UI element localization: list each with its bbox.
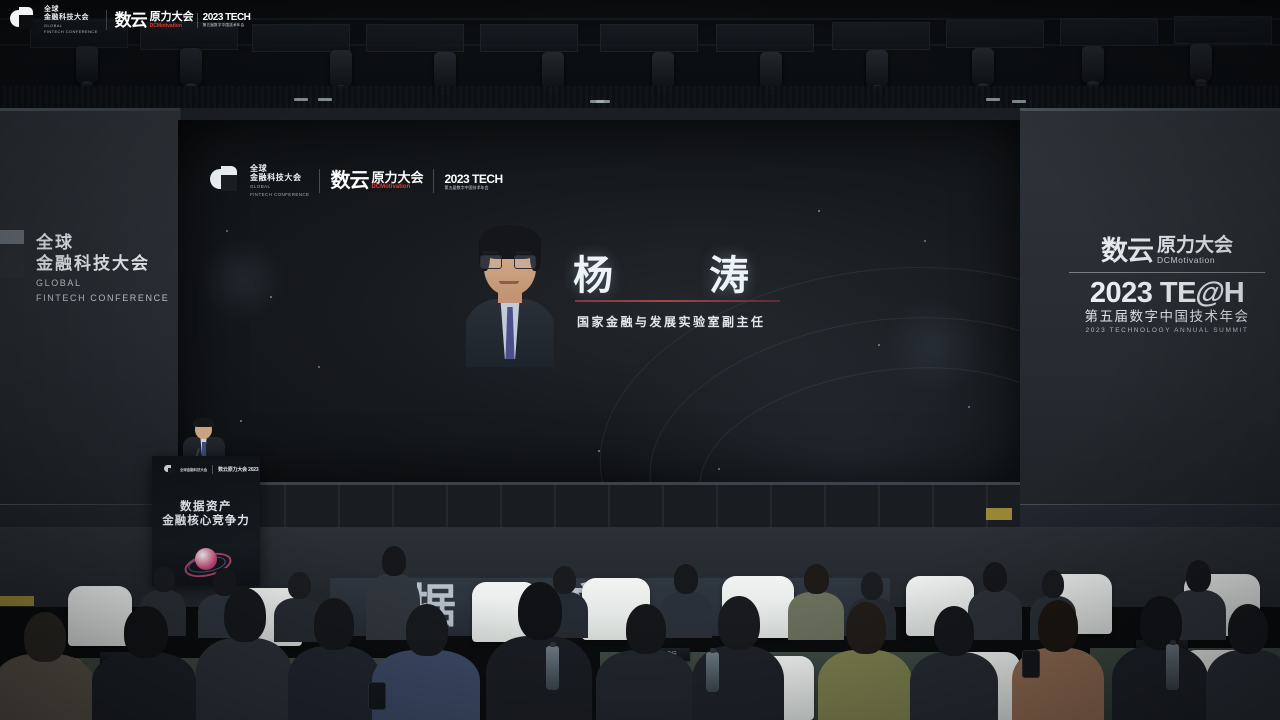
tech-at-glyph: @ xyxy=(1193,279,1227,308)
right-wall-tech-title: 2023 TE@H xyxy=(1062,279,1272,308)
audience-member xyxy=(818,600,912,720)
watermark-en-line2: FINTECH CONFERENCE xyxy=(44,29,98,34)
stage-light xyxy=(330,50,352,88)
podium-title-line2: 金融核心竞争力 xyxy=(152,512,260,528)
fintech-wall-logo-icon xyxy=(0,224,50,296)
screen-year-logo: 2023 TECH 第五届数字中国技术年会 xyxy=(444,173,502,190)
speaker-title: 国家金融与发展实验室副主任 xyxy=(577,313,766,330)
audience-member xyxy=(910,604,998,720)
audience-member xyxy=(196,586,292,720)
audience-member xyxy=(372,602,480,720)
speaker-name-underline xyxy=(575,300,780,302)
stage-light xyxy=(760,52,782,90)
watermark-en-line1: GLOBAL xyxy=(44,23,98,28)
right-wall-branding: 数云 原力大会 DCMotivation 2023 TE@H 第五届数字中国技术… xyxy=(1062,236,1272,334)
stage-light xyxy=(76,46,98,84)
dcm-title-en: DCMotivation xyxy=(150,23,194,29)
right-wall-divider xyxy=(1069,272,1265,273)
screen-dcm-title-en: DCMotivation xyxy=(371,184,423,191)
audience-member xyxy=(1206,602,1280,720)
audience-member xyxy=(596,602,694,720)
broadcast-watermark: 全球 金融科技大会 GLOBAL FINTECH CONFERENCE 数云 原… xyxy=(10,6,250,34)
screen-logo-en-line2: FINTECH CONFERENCE xyxy=(250,192,309,198)
tech-suffix: H xyxy=(1224,277,1244,309)
audience-member xyxy=(288,596,380,720)
water-bottle xyxy=(546,646,559,690)
podium-logo-dcm: 数云原力大会 2023 xyxy=(218,466,258,473)
screen-fintech-logo-icon xyxy=(210,166,240,196)
conference-hall-photo: 全球 金融科技大会 GLOBAL FINTECH CONFERENCE 数云 原… xyxy=(0,0,1280,720)
floor-marker-tape xyxy=(986,508,1012,520)
podium-logo-cn: 全球金融科技大会 xyxy=(180,468,207,472)
audience-member xyxy=(1112,594,1208,720)
audience-member xyxy=(486,580,592,720)
left-wall-en-line2: FINTECH CONFERENCE xyxy=(36,292,169,304)
screen-logo-divider xyxy=(319,169,320,193)
dcm-year-line2: 第五届数字中国技术年会 xyxy=(203,23,251,28)
podium-logo-row: 全球金融科技大会 数云原力大会 2023 xyxy=(164,464,258,475)
left-wall-en-line1: GLOBAL xyxy=(36,277,169,289)
screen-logo-en-line1: GLOBAL xyxy=(250,184,309,190)
left-wall-branding: 全球 金融科技大会 GLOBAL FINTECH CONFERENCE xyxy=(36,232,169,304)
screen-dcm-logo: 数云 原力大会 DCMotivation xyxy=(330,171,423,191)
watermark-cn-line2: 金融科技大会 xyxy=(44,14,98,22)
stage-light xyxy=(972,48,994,86)
left-wall-panel xyxy=(0,108,180,508)
stage-light xyxy=(180,48,202,86)
screen-logo-row: 全球 金融科技大会 GLOBAL FINTECH CONFERENCE 数云 原… xyxy=(210,164,503,198)
dcm-title-cn: 原力大会 xyxy=(150,12,194,23)
podium-fintech-logo-icon xyxy=(164,464,175,475)
water-bottle xyxy=(1166,644,1179,690)
audience-member xyxy=(0,610,94,720)
screen-logo-cn-line1: 全球 xyxy=(250,164,309,173)
screen-year-divider xyxy=(433,169,434,193)
tech-prefix: 2023 TE xyxy=(1090,277,1196,309)
stage-light xyxy=(1190,44,1212,82)
stage-base-panels xyxy=(178,485,1020,527)
dcm-brand-cn: 数云 xyxy=(115,12,147,29)
audience-area: 中国民生银行 进出口银行 中信银行 xyxy=(0,540,1280,720)
smartphone[interactable] xyxy=(368,682,386,710)
dcm-year-line1: 2023 TECH xyxy=(203,13,251,23)
fintech-logo-icon xyxy=(10,7,36,33)
right-wall-title-cn: 原力大会 xyxy=(1157,236,1233,255)
podium-logo-divider xyxy=(212,465,213,474)
right-wall-cn-subtitle: 第五届数字中国技术年会 xyxy=(1062,309,1272,325)
right-wall-brand-cn: 数云 xyxy=(1101,238,1153,265)
stage-light xyxy=(1082,46,1104,84)
left-wall-cn-line1: 全球 xyxy=(36,232,169,253)
stage-light xyxy=(434,52,456,90)
screen-dcm-title-cn: 原力大会 xyxy=(371,171,423,184)
main-led-screen: 全球 金融科技大会 GLOBAL FINTECH CONFERENCE 数云 原… xyxy=(178,120,1020,485)
left-wall-cn-line2: 金融科技大会 xyxy=(36,253,169,274)
right-wall-en-subtitle: 2023 TECHNOLOGY ANNUAL SUMMIT xyxy=(1062,327,1272,334)
speaker-name: 杨 涛 xyxy=(573,243,777,301)
dcmotivation-watermark: 数云 原力大会 DCMotivation 2023 TECH 第五届数字中国技术… xyxy=(115,12,251,29)
logo-divider xyxy=(106,10,107,30)
smartphone[interactable] xyxy=(1022,650,1040,678)
stage-light xyxy=(652,52,674,90)
audience-member xyxy=(92,604,196,720)
water-bottle xyxy=(706,652,719,692)
screen-year-line1: 2023 TECH xyxy=(444,173,502,185)
screen-logo-cn-line2: 金融科技大会 xyxy=(250,173,309,182)
stage-light xyxy=(542,52,564,90)
screen-dcm-brand-cn: 数云 xyxy=(330,171,368,191)
speaker-portrait-photo xyxy=(466,225,554,367)
right-wall-title-en: DCMotivation xyxy=(1157,255,1215,265)
watermark-cn-line1: 全球 xyxy=(44,6,98,14)
stage-light xyxy=(866,50,888,88)
